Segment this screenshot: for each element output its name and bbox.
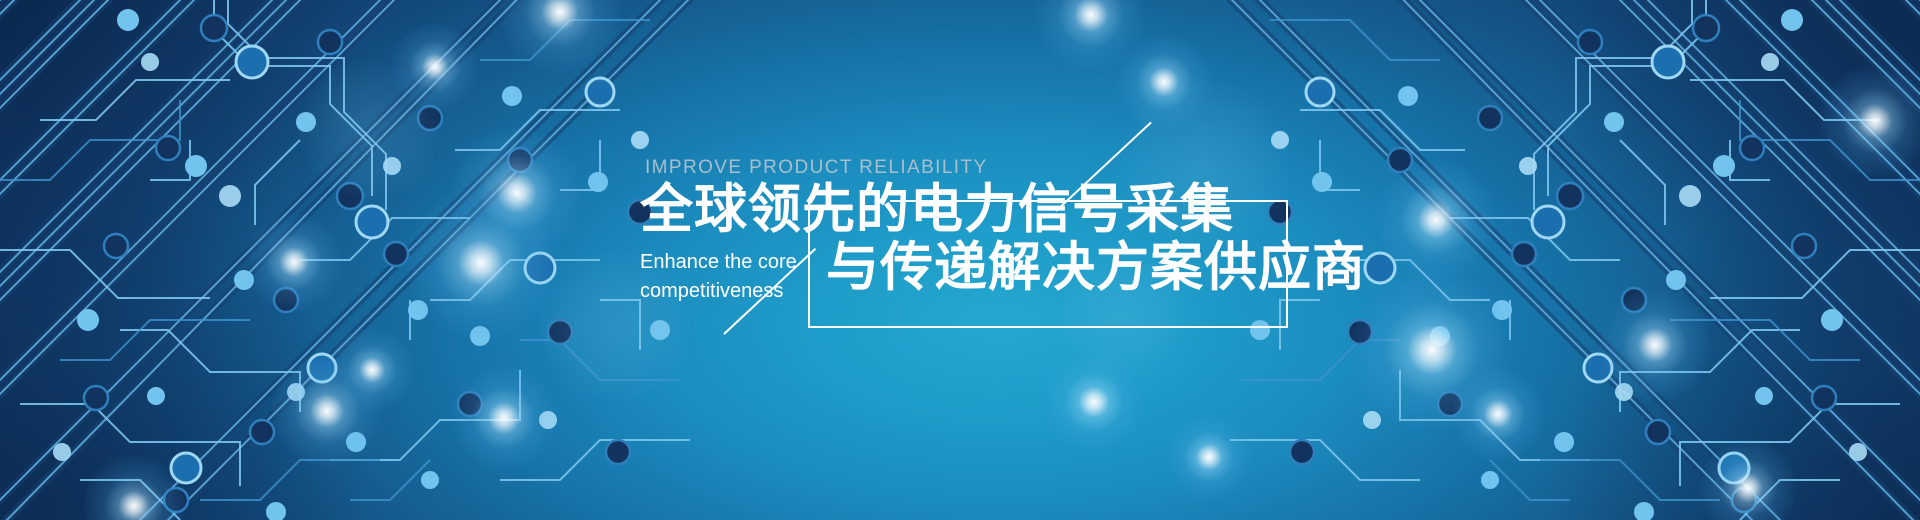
hero-banner: IMPROVE PRODUCT RELIABILITY 全球领先的电力信号采集 … <box>0 0 1920 520</box>
hero-subtitle-en-line2: competitiveness <box>640 277 810 306</box>
accent-frame-top-segment <box>890 200 1288 202</box>
hero-headline-line2: 与传递解决方案供应商 <box>826 238 1366 297</box>
hero-kicker: IMPROVE PRODUCT RELIABILITY <box>645 157 988 179</box>
hero-subtitle-en-line1: Enhance the core <box>640 248 810 277</box>
hero-content: IMPROVE PRODUCT RELIABILITY 全球领先的电力信号采集 … <box>0 0 1920 520</box>
